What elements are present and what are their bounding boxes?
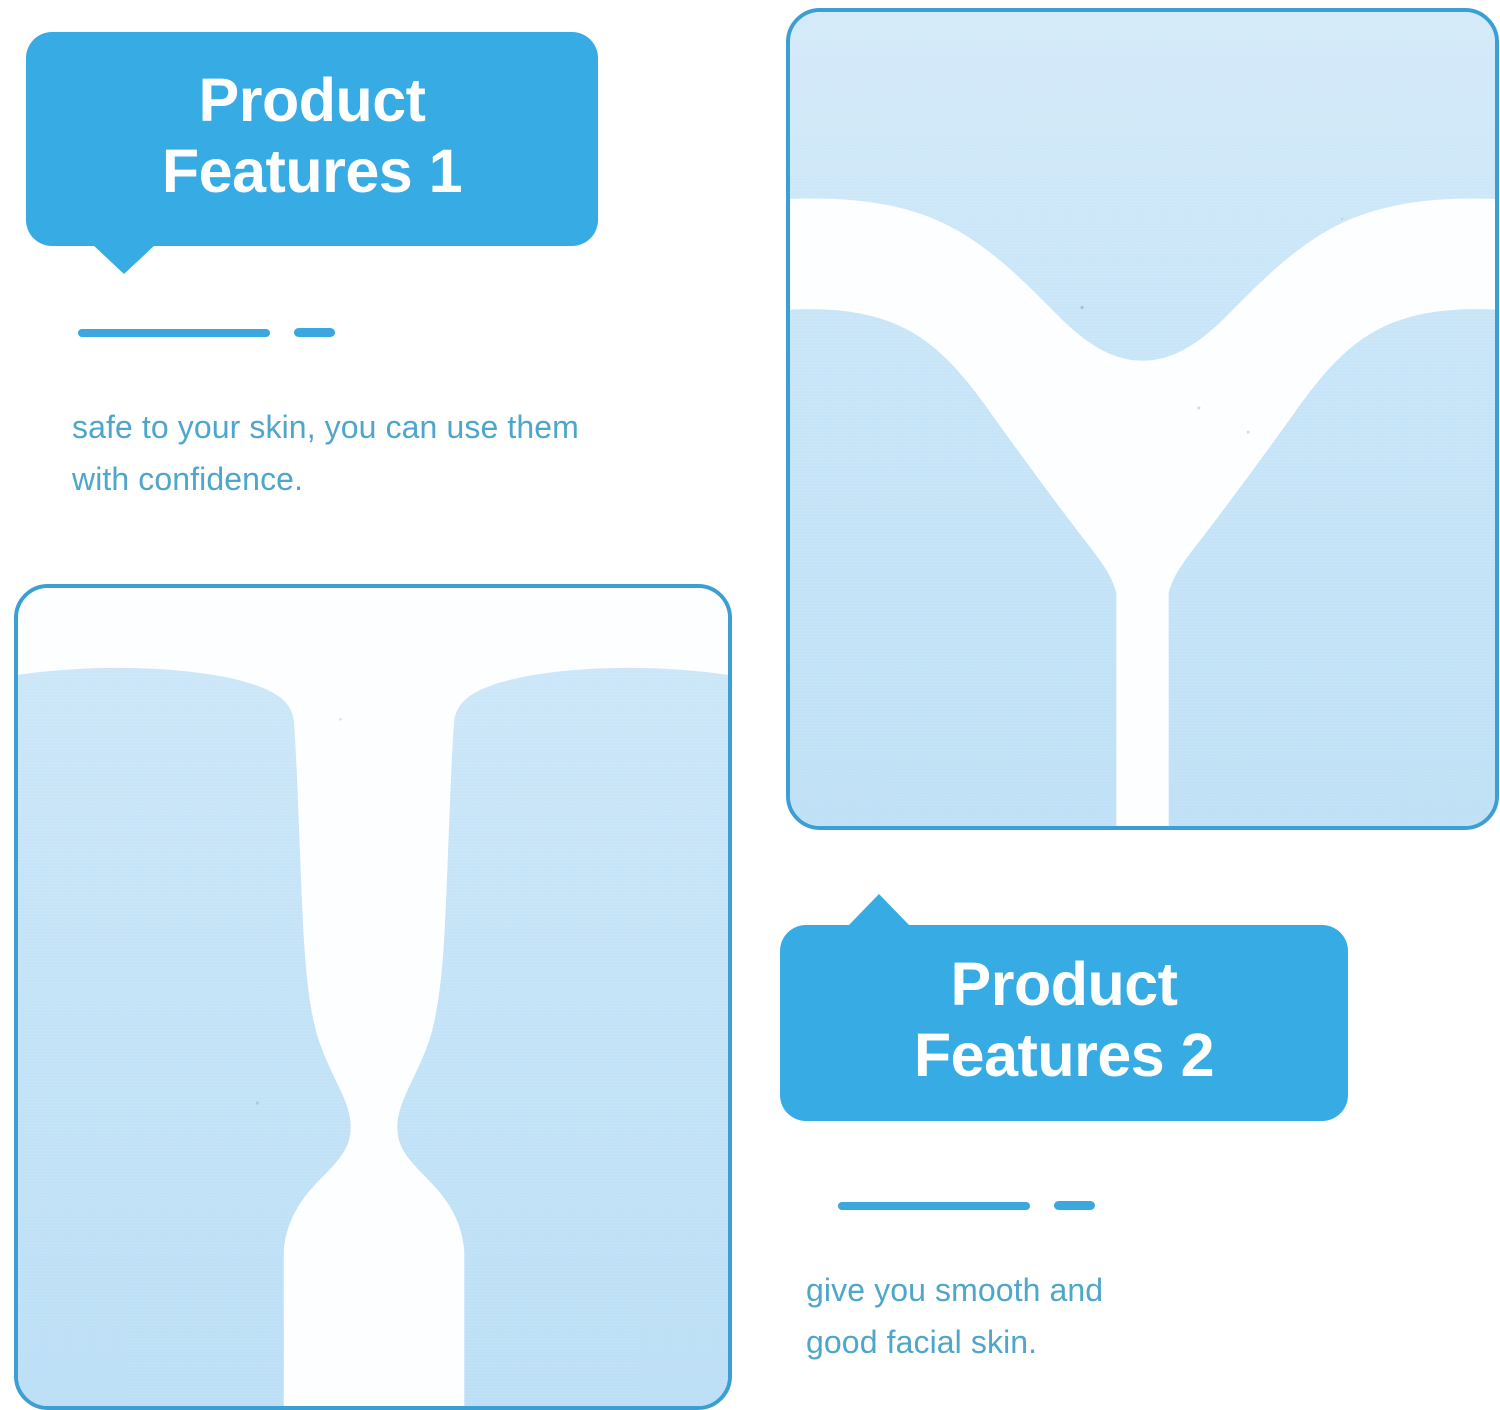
description-feature-1: safe to your skin, you can use them with… <box>72 402 672 506</box>
product-photo-v-shape-tape <box>786 8 1499 830</box>
callout-bubble-feature-2: Product Features 2 <box>780 925 1348 1121</box>
divider-feature-1 <box>78 328 335 337</box>
divider-long-rule-icon <box>78 329 270 337</box>
callout-title-feature-1: Product Features 1 <box>146 65 478 214</box>
product-photo-t-shape-tape <box>14 584 732 1410</box>
callout-title-feature-2: Product Features 2 <box>898 949 1230 1098</box>
description-feature-2: give you smooth and good facial skin. <box>806 1265 1366 1369</box>
divider-short-rule-icon <box>294 328 335 337</box>
callout-tail-up-icon <box>848 894 910 926</box>
callout-bubble-feature-1: Product Features 1 <box>26 32 598 246</box>
v-shape-tape-illustration <box>790 12 1495 826</box>
divider-feature-2 <box>838 1201 1095 1210</box>
t-shape-tape-illustration <box>18 588 728 1406</box>
infographic-canvas: Product Features 1 safe to your skin, yo… <box>0 0 1500 1410</box>
divider-long-rule-icon <box>838 1202 1030 1210</box>
callout-tail-down-icon <box>92 244 156 274</box>
divider-short-rule-icon <box>1054 1201 1095 1210</box>
